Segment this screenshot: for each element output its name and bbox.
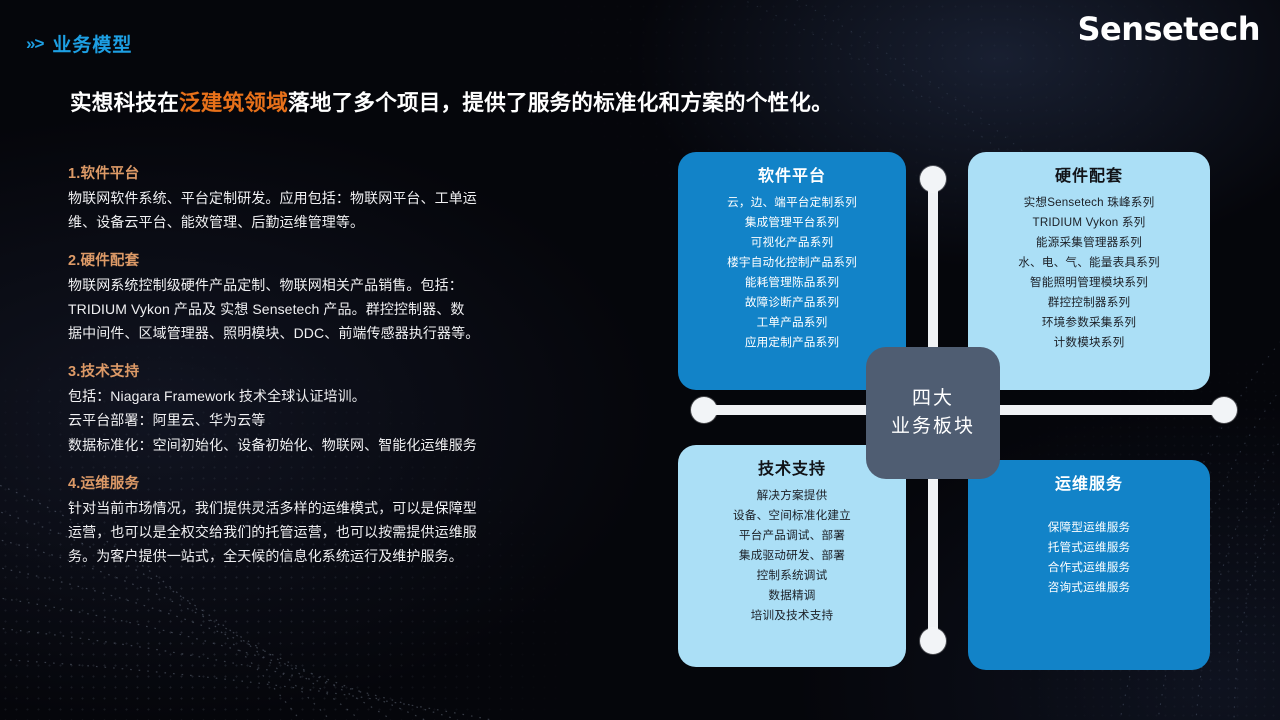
text-line: 务。为客户提供一站式，全天候的信息化系统运行及维护服务。 (68, 544, 578, 568)
text-block: 4.运维服务 针对当前市场情况，我们提供灵活多样的运维模式，可以是保障型 运营，… (68, 472, 578, 568)
text-block: 2.硬件配套 物联网系统控制级硬件产品定制、物联网相关产品销售。包括： TRID… (68, 249, 578, 345)
list-item: 群控控制器系列 (980, 293, 1198, 313)
diagram-hub: 四大 业务板块 (866, 347, 1000, 479)
headline-before: 实想科技在 (70, 91, 179, 115)
list-item: 实想Sensetech 珠峰系列 (980, 193, 1198, 213)
text-line: 物联网系统控制级硬件产品定制、物联网相关产品销售。包括： (68, 273, 578, 297)
text-block-body: 包括：Niagara Framework 技术全球认证培训。 云平台部署：阿里云… (68, 384, 578, 456)
list-item: 平台产品调试、部署 (690, 526, 894, 546)
chevrons-right-icon: »> (26, 35, 43, 52)
page-title: 实想科技在泛建筑领域落地了多个项目，提供了服务的标准化和方案的个性化。 (70, 86, 833, 117)
text-block-body: 针对当前市场情况，我们提供灵活多样的运维模式，可以是保障型 运营，也可以是全权交… (68, 496, 578, 568)
connector-node-bottom (920, 628, 946, 654)
text-line: 针对当前市场情况，我们提供灵活多样的运维模式，可以是保障型 (68, 496, 578, 520)
list-item: 水、电、气、能量表具系列 (980, 253, 1198, 273)
text-line: 维、设备云平台、能效管理、后勤运维管理等。 (68, 210, 578, 234)
list-item: 保障型运维服务 (980, 518, 1198, 538)
section-tag-label: 业务模型 (52, 30, 132, 57)
card-item-list: 实想Sensetech 珠峰系列 TRIDIUM Vykon 系列 能源采集管理… (980, 193, 1198, 353)
card-title: 运维服务 (980, 470, 1198, 494)
list-item: 培训及技术支持 (690, 606, 894, 626)
list-item: 合作式运维服务 (980, 558, 1198, 578)
list-item: 能源采集管理器系列 (980, 233, 1198, 253)
hub-line-2: 业务板块 (891, 413, 975, 441)
card-item-list: 保障型运维服务 托管式运维服务 合作式运维服务 咨询式运维服务 (980, 518, 1198, 598)
text-block-title: 1.软件平台 (68, 162, 578, 183)
card-title: 技术支持 (690, 455, 894, 479)
list-item: 计数模块系列 (980, 333, 1198, 353)
brand-logo: Sensetech (1077, 10, 1260, 48)
text-block-title: 3.技术支持 (68, 360, 578, 381)
text-line: 数据标准化：空间初始化、设备初始化、物联网、智能化运维服务 (68, 433, 578, 457)
list-item: 数据精调 (690, 586, 894, 606)
list-item: 云，边、端平台定制系列 (690, 193, 894, 213)
list-item: 集成管理平台系列 (690, 213, 894, 233)
section-tag: »> 业务模型 (26, 30, 132, 57)
text-line: 运营，也可以是全权交给我们的托管运营，也可以按需提供运维服 (68, 520, 578, 544)
text-block-title: 4.运维服务 (68, 472, 578, 493)
card-operations-service[interactable]: 运维服务 保障型运维服务 托管式运维服务 合作式运维服务 咨询式运维服务 (968, 460, 1210, 670)
text-line: TRIDIUM Vykon 产品及 实想 Sensetech 产品。群控控制器、… (68, 297, 578, 321)
text-line: 云平台部署：阿里云、华为云等 (68, 408, 578, 432)
list-item: 应用定制产品系列 (690, 333, 894, 353)
text-line: 据中间件、区域管理器、照明模块、DDC、前端传感器执行器等。 (68, 321, 578, 345)
list-item: 托管式运维服务 (980, 538, 1198, 558)
list-item: 故障诊断产品系列 (690, 293, 894, 313)
text-line: 包括：Niagara Framework 技术全球认证培训。 (68, 384, 578, 408)
card-hardware-package[interactable]: 硬件配套 实想Sensetech 珠峰系列 TRIDIUM Vykon 系列 能… (968, 152, 1210, 390)
list-item: 智能照明管理模块系列 (980, 273, 1198, 293)
card-title: 硬件配套 (980, 162, 1198, 186)
slide-canvas: »> 业务模型 Sensetech 实想科技在泛建筑领域落地了多个项目，提供了服… (0, 0, 1280, 720)
text-block: 3.技术支持 包括：Niagara Framework 技术全球认证培训。 云平… (68, 360, 578, 456)
text-block-title: 2.硬件配套 (68, 249, 578, 270)
connector-node-left (691, 397, 717, 423)
list-item: 解决方案提供 (690, 486, 894, 506)
list-item: 设备、空间标准化建立 (690, 506, 894, 526)
list-item: 工单产品系列 (690, 313, 894, 333)
business-model-diagram: 软件平台 云，边、端平台定制系列 集成管理平台系列 可视化产品系列 楼宇自动化控… (668, 140, 1264, 680)
list-item: TRIDIUM Vykon 系列 (980, 213, 1198, 233)
text-line: 物联网软件系统、平台定制研发。应用包括：物联网平台、工单运 (68, 186, 578, 210)
text-block-body: 物联网系统控制级硬件产品定制、物联网相关产品销售。包括： TRIDIUM Vyk… (68, 273, 578, 345)
list-item: 咨询式运维服务 (980, 578, 1198, 598)
list-item: 环境参数采集系列 (980, 313, 1198, 333)
list-item: 楼宇自动化控制产品系列 (690, 253, 894, 273)
text-block: 1.软件平台 物联网软件系统、平台定制研发。应用包括：物联网平台、工单运 维、设… (68, 162, 578, 234)
left-text-column: 1.软件平台 物联网软件系统、平台定制研发。应用包括：物联网平台、工单运 维、设… (68, 162, 578, 568)
list-item: 集成驱动研发、部署 (690, 546, 894, 566)
connector-node-top (920, 166, 946, 192)
headline-after: 落地了多个项目，提供了服务的标准化和方案的个性化。 (288, 91, 833, 115)
card-item-list: 云，边、端平台定制系列 集成管理平台系列 可视化产品系列 楼宇自动化控制产品系列… (690, 193, 894, 353)
list-item: 可视化产品系列 (690, 233, 894, 253)
card-technical-support[interactable]: 技术支持 解决方案提供 设备、空间标准化建立 平台产品调试、部署 集成驱动研发、… (678, 445, 906, 667)
hub-line-1: 四大 (912, 385, 954, 413)
card-item-list: 解决方案提供 设备、空间标准化建立 平台产品调试、部署 集成驱动研发、部署 控制… (690, 486, 894, 626)
card-title: 软件平台 (690, 162, 894, 186)
headline-highlight: 泛建筑领域 (179, 91, 288, 115)
connector-node-right (1211, 397, 1237, 423)
list-item: 能耗管理陈品系列 (690, 273, 894, 293)
text-block-body: 物联网软件系统、平台定制研发。应用包括：物联网平台、工单运 维、设备云平台、能效… (68, 186, 578, 234)
list-item: 控制系统调试 (690, 566, 894, 586)
